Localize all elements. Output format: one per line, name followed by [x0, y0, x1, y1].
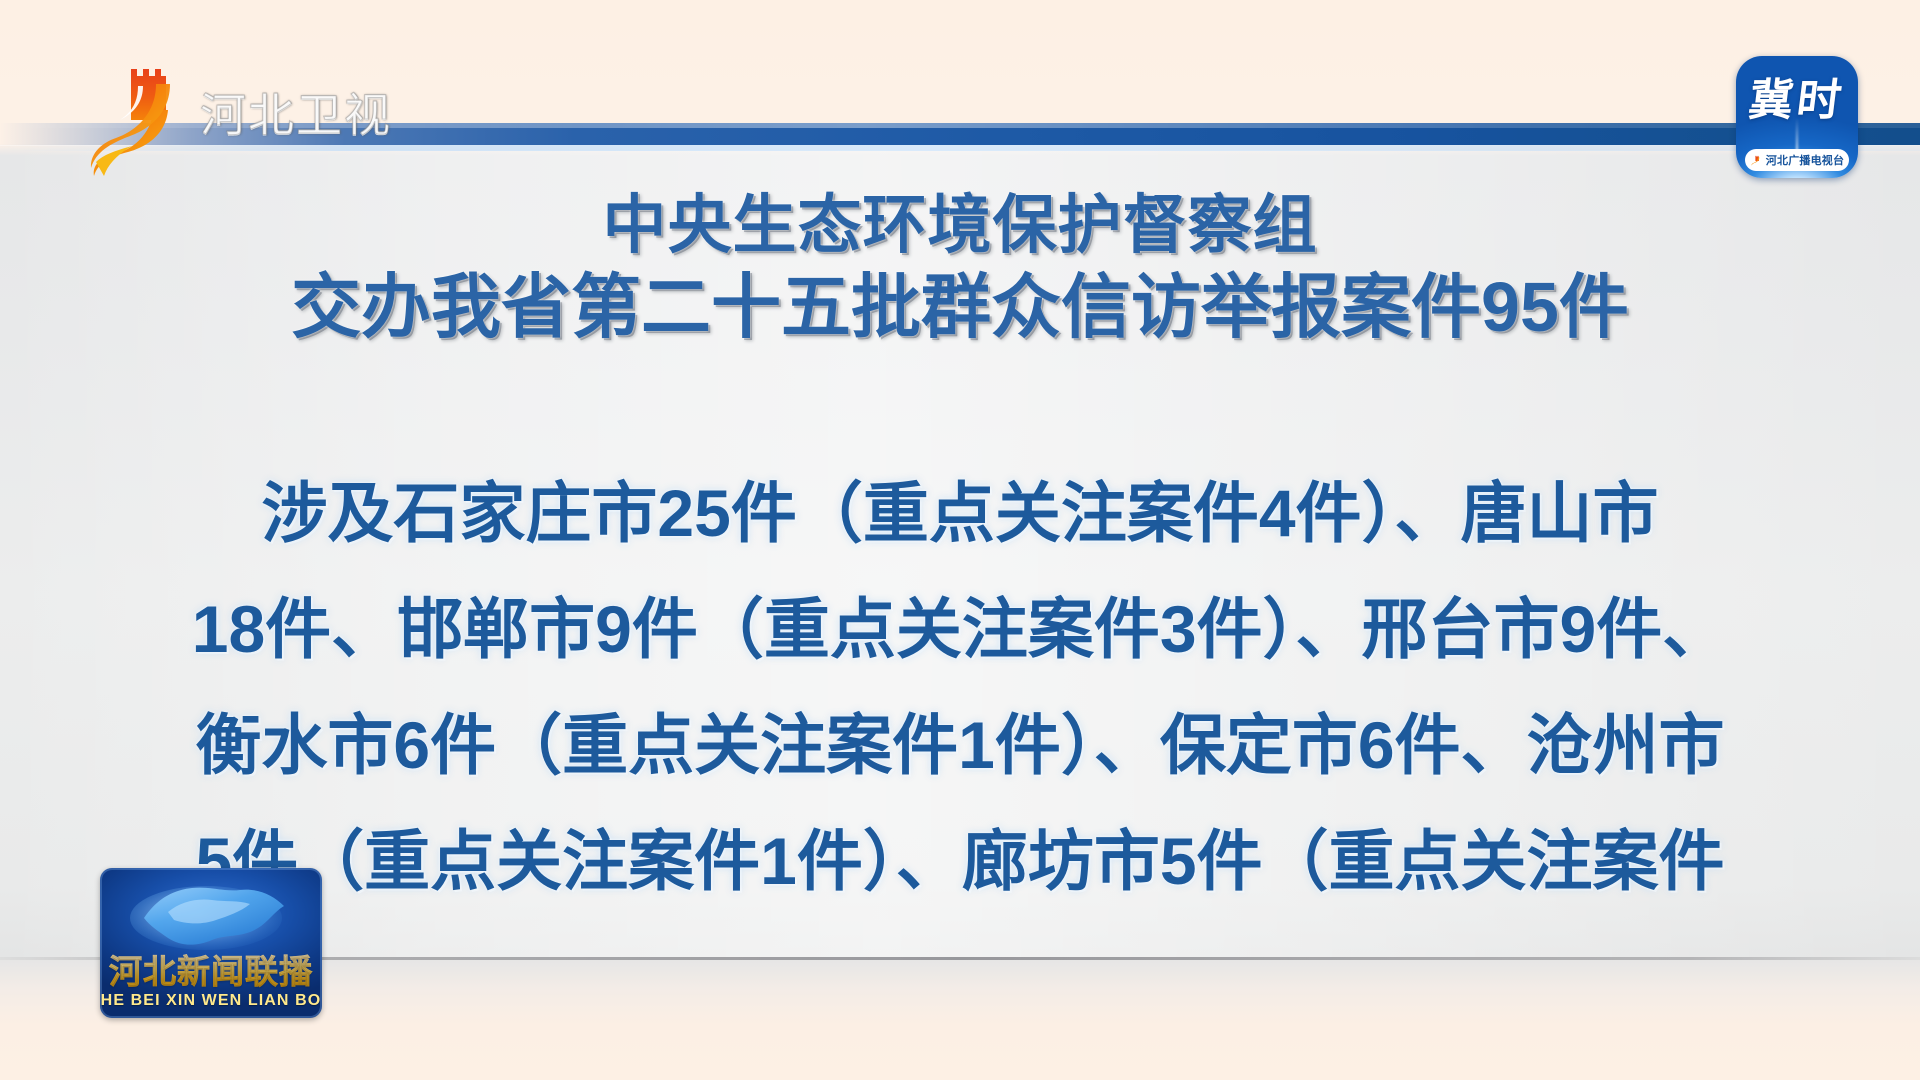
- headline-block: 中央生态环境保护督察组 交办我省第二十五批群众信访举报案件95件: [0, 186, 1920, 350]
- headline-line-1: 中央生态环境保护督察组: [0, 186, 1920, 264]
- hebei-map-graphic-icon: [122, 878, 302, 956]
- body-line-1: 涉及石家庄市25件（重点关注案件4件）、唐山市: [0, 455, 1920, 571]
- body-line-2: 18件、邯郸市9件（重点关注案件3件）、邢台市9件、: [0, 571, 1920, 687]
- channel-bug: 河北卫视: [88, 50, 388, 180]
- great-wall-tower-logo-icon: [88, 50, 196, 180]
- jishi-footer-text: 河北广播电视台: [1766, 152, 1844, 168]
- body-block: 涉及石家庄市25件（重点关注案件4件）、唐山市 18件、邯郸市9件（重点关注案件…: [0, 455, 1920, 919]
- headline-line-2: 交办我省第二十五批群众信访举报案件95件: [0, 264, 1920, 350]
- program-name-cn: 河北新闻联播: [100, 954, 322, 992]
- channel-wordmark: 河北卫视: [200, 92, 392, 138]
- body-line-3: 衡水市6件（重点关注案件1件）、保定市6件、沧州市: [0, 687, 1920, 803]
- great-wall-mini-mark-icon: [1750, 154, 1763, 167]
- program-name-en: HE BEI XIN WEN LIAN BO: [100, 992, 322, 1010]
- jishi-app-icon: 冀时 河北广播电视台: [1736, 56, 1858, 178]
- jishi-footer: 河北广播电视台: [1745, 149, 1849, 171]
- program-logo: 河北新闻联播 HE BEI XIN WEN LIAN BO: [100, 868, 322, 1018]
- broadcast-frame: 河北卫视 冀时 河北广播电视台 中央生态环境保护督察组 交办我省第二十五批群众信…: [0, 0, 1920, 1080]
